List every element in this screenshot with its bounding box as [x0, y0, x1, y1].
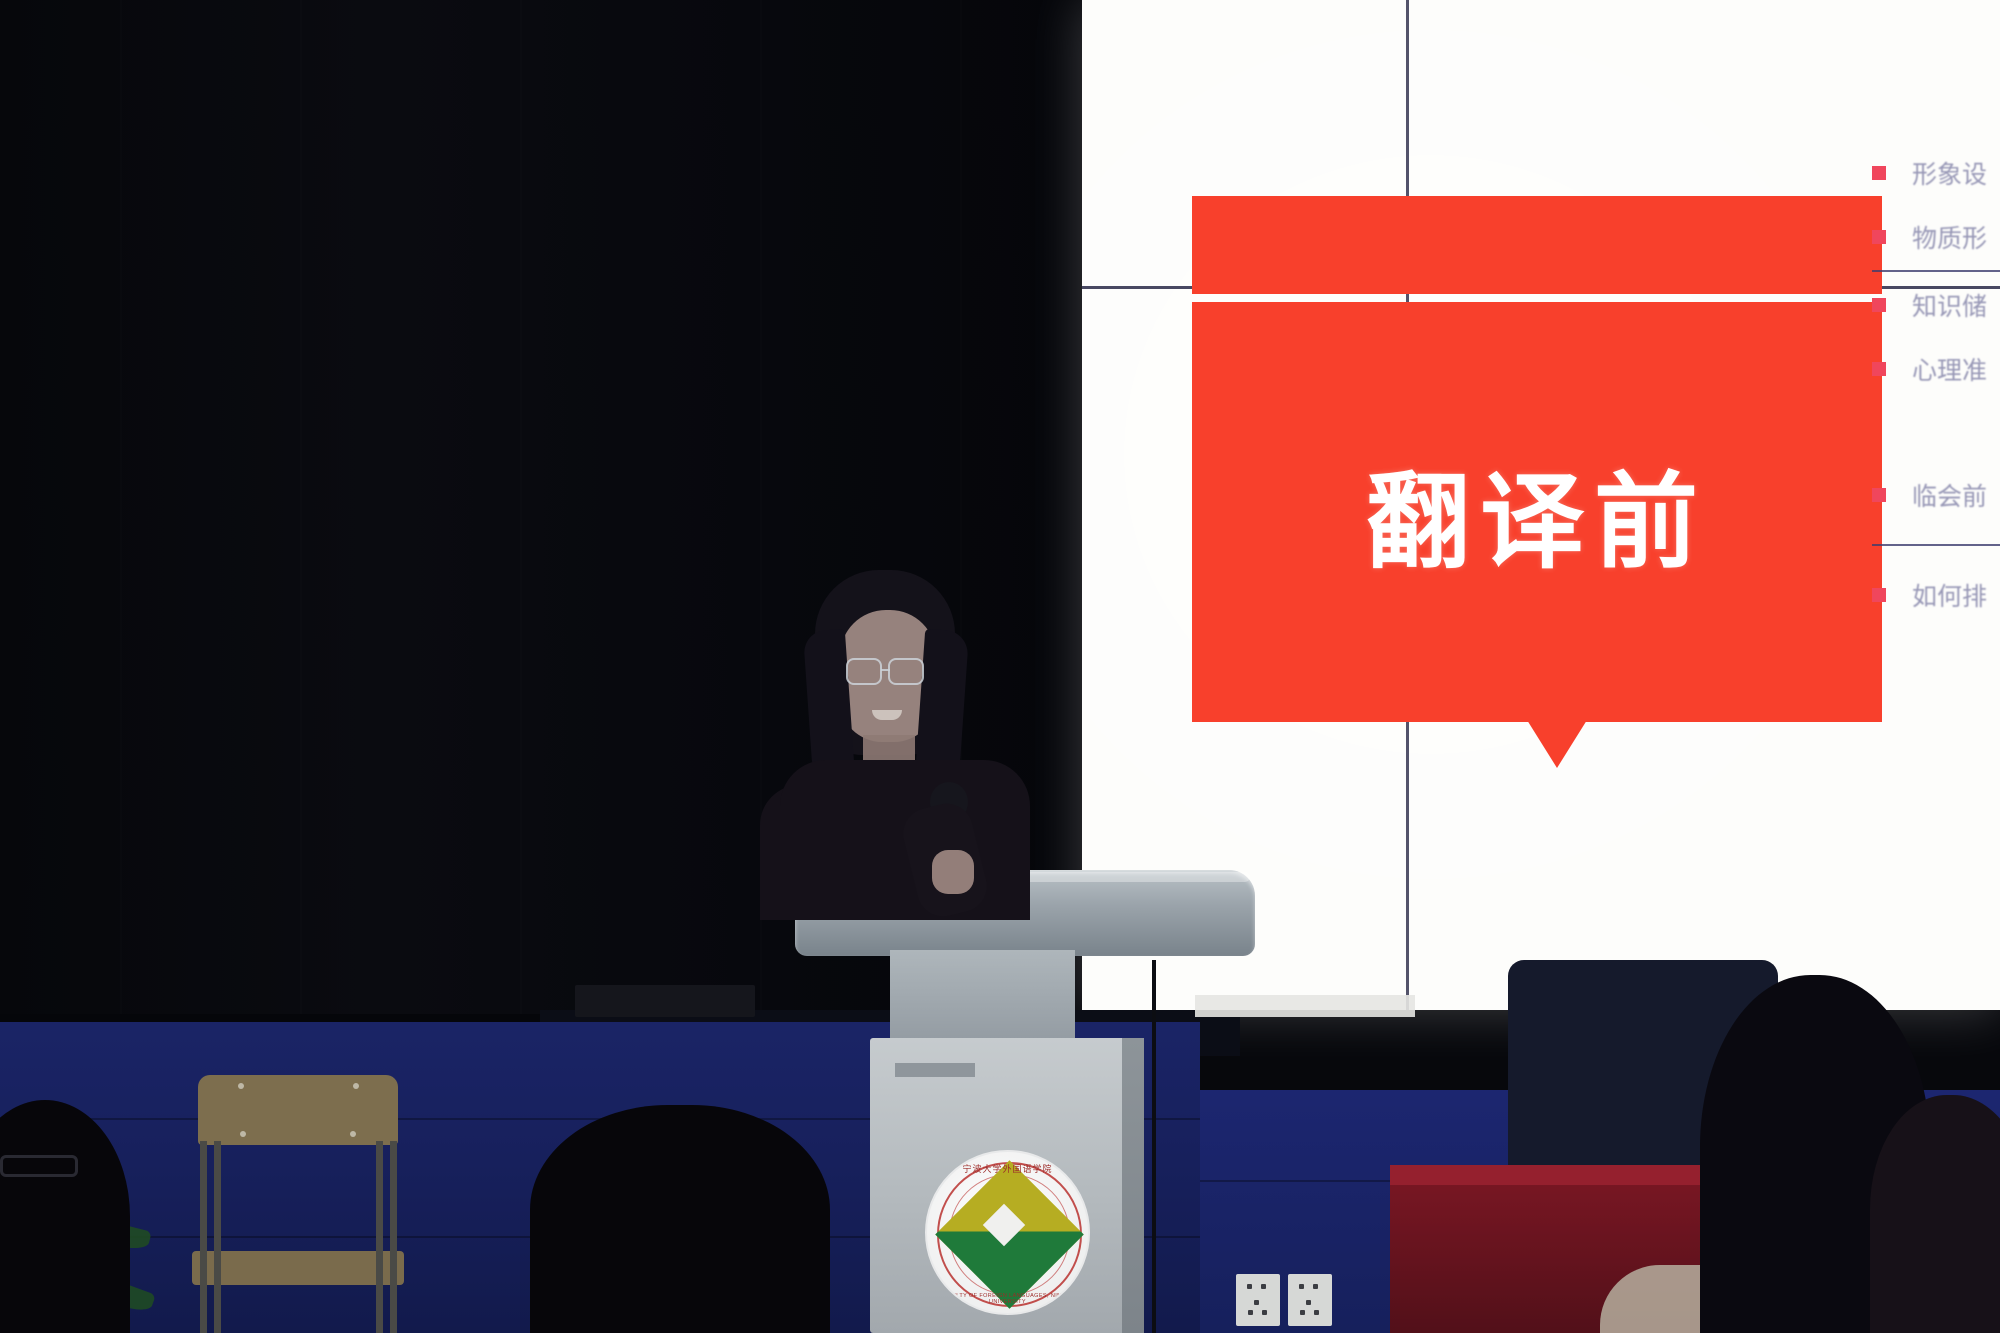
- glasses-lens-right-icon: [888, 658, 924, 685]
- list-item-label: 心理准: [1912, 354, 1987, 384]
- laptop: [575, 985, 755, 1017]
- audience-head: [1870, 1095, 2000, 1333]
- projection-screen: 翻译前 形象设 物质形 知识储: [1082, 0, 2000, 1010]
- slide-headline: 翻译前: [1192, 302, 1882, 722]
- list-item: 知识储: [1872, 290, 2000, 320]
- glasses-bridge-icon: [881, 669, 890, 671]
- power-outlet[interactable]: [1236, 1274, 1280, 1326]
- podium-label-plate: [895, 1063, 975, 1077]
- stage-chair-left: [178, 1075, 418, 1333]
- slide-accent-bar: [1192, 196, 1882, 294]
- paper-sheet: [1195, 995, 1415, 1017]
- list-item: 物质形: [1872, 222, 2000, 252]
- slide-callout-tail: [1527, 720, 1587, 768]
- speaker: [760, 570, 1060, 900]
- chair-seat: [192, 1251, 404, 1285]
- list-item-label: 临会前: [1912, 480, 1987, 510]
- university-logo: 宁波大学外国语学院 FACULTY OF FOREIGN LANGUAGES, …: [925, 1150, 1090, 1315]
- slide-content: 翻译前 形象设 物质形 知识储: [1082, 0, 2000, 1010]
- slide-bullet-list: 形象设 物质形 知识储 心理准: [1872, 140, 2000, 610]
- podium-neck: [890, 950, 1075, 1040]
- bullet-square-icon: [1872, 488, 1886, 502]
- logo-text-english: FACULTY OF FOREIGN LANGUAGES, NINGBO UNI…: [927, 1293, 1088, 1305]
- list-item: 临会前: [1872, 480, 2000, 510]
- speaker-hair-right: [915, 629, 969, 782]
- list-item-label: 形象设: [1912, 158, 1987, 188]
- list-item-label: 知识储: [1912, 290, 1987, 320]
- bullet-square-icon: [1872, 166, 1886, 180]
- chair-back: [198, 1075, 398, 1145]
- bullet-square-icon: [1872, 298, 1886, 312]
- audience-glasses-icon: [0, 1155, 78, 1177]
- bullet-square-icon: [1872, 588, 1886, 602]
- speaker-hand: [932, 850, 974, 894]
- glasses-lens-left-icon: [846, 658, 882, 685]
- list-item: 如何排: [1872, 580, 2000, 610]
- logo-text-chinese: 宁波大学外国语学院: [927, 1162, 1088, 1175]
- audience-head: [530, 1105, 830, 1333]
- photo-frame: 翻译前 形象设 物质形 知识储: [0, 0, 2000, 1333]
- list-item-label: 如何排: [1912, 580, 1987, 610]
- podium-side-panel: [1122, 1038, 1144, 1333]
- list-item-label: 物质形: [1912, 222, 1987, 252]
- power-outlet[interactable]: [1288, 1274, 1332, 1326]
- list-item: 形象设: [1872, 158, 2000, 188]
- list-item: 心理准: [1872, 354, 2000, 384]
- bullet-square-icon: [1872, 230, 1886, 244]
- bullet-square-icon: [1872, 362, 1886, 376]
